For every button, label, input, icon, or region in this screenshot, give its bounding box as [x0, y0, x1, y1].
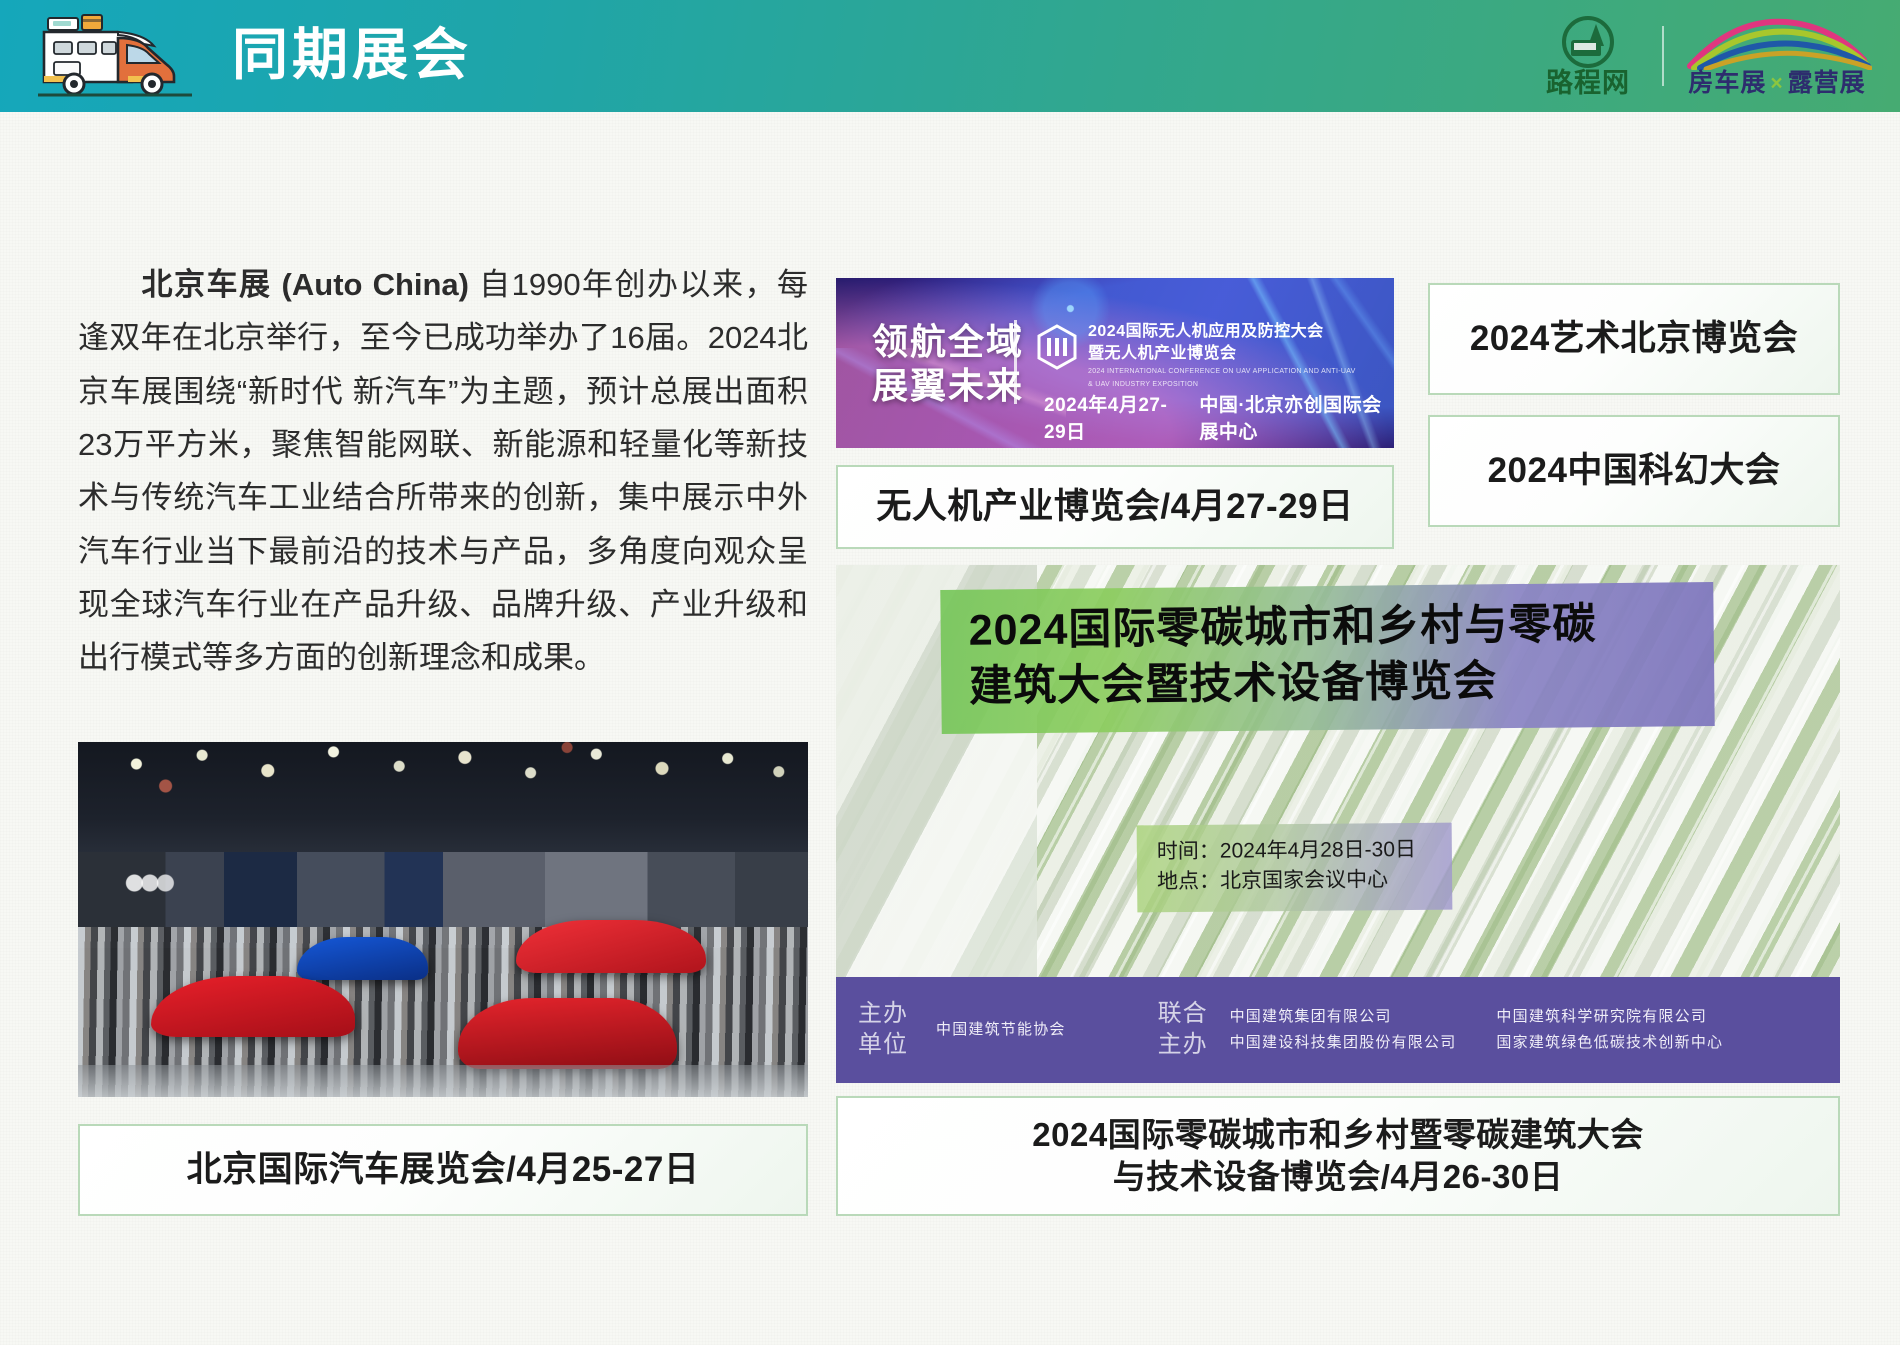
- uav-conference-banner: 领航全域 展翼未来 2024国际无人机应用及防控大会 暨无人机产业博览会 202…: [836, 278, 1394, 448]
- banner-title-block: 2024国际无人机应用及防控大会 暨无人机产业博览会 2024 INTERNAT…: [1088, 321, 1356, 390]
- lucheng-logo: 路程网: [1532, 16, 1644, 97]
- poster-info-box: 时间：2024年4月28日-30日 地点：北京国家会议中心: [1137, 823, 1453, 913]
- poster-cohost-column-2: 中国建筑科学研究院有限公司 国家建筑绿色低碳技术创新中心: [1496, 1004, 1723, 1055]
- poster-cohost-group: 联合 主办 中国建筑集团有限公司 中国建设科技集团股份有限公司 中国建筑科学研究…: [1158, 999, 1724, 1060]
- caption-zero-carbon-text: 2024国际零碳城市和乡村暨零碳建筑大会 与技术设备博览会/4月26-30日: [1032, 1114, 1643, 1198]
- poster-info-time: 时间：2024年4月28日-30日: [1157, 835, 1416, 868]
- blue-car: [297, 937, 428, 980]
- lucheng-logo-text: 路程网: [1546, 70, 1630, 97]
- banner-title-line2: 暨无人机产业博览会: [1088, 343, 1356, 365]
- poster-cohost-label: 联合 主办: [1158, 999, 1208, 1060]
- red-car-front: [458, 998, 677, 1069]
- banner-slogan: 领航全域 展翼未来: [872, 320, 1024, 408]
- caption-scifi-convention-text: 2024中国科幻大会: [1488, 449, 1781, 494]
- banner-subtitle-line2: & UAV INDUSTRY EXPOSITION: [1088, 380, 1356, 390]
- banner-date: 2024年4月27-29日: [1044, 390, 1177, 444]
- expo-logo-right: 露营展: [1788, 71, 1866, 96]
- banner-vertical-divider: [1014, 320, 1017, 404]
- poster-host-label-line2: 单位: [858, 1030, 908, 1061]
- article-lead: 北京车展 (Auto China): [140, 267, 469, 302]
- caption-zero-carbon: 2024国际零碳城市和乡村暨零碳建筑大会 与技术设备博览会/4月26-30日: [836, 1096, 1840, 1216]
- poster-host-group: 主办 单位 中国建筑节能协会: [858, 999, 1066, 1060]
- caption-uav: 无人机产业博览会/4月27-29日: [836, 465, 1394, 549]
- expo-logo-left: 房车展: [1688, 71, 1766, 96]
- expo-logo-separator: ×: [1770, 73, 1783, 94]
- article-body: 自1990年创办以来，每逢双年在北京举行，至今已成功举办了16届。2024北京车…: [78, 267, 808, 675]
- zero-carbon-conference-poster: 2024国际零碳城市和乡村与零碳 建筑大会暨技术设备博览会 时间：2024年4月…: [836, 565, 1840, 1083]
- poster-cohost-col1-line2: 中国建设科技集团股份有限公司: [1230, 1030, 1457, 1056]
- poster-cohost-label-line2: 主办: [1158, 1030, 1208, 1061]
- caption-zero-carbon-line1: 2024国际零碳城市和乡村暨零碳建筑大会: [1032, 1114, 1643, 1156]
- rv-camper-icon: [32, 14, 212, 100]
- caption-uav-text: 无人机产业博览会/4月27-29日: [876, 485, 1353, 530]
- poster-host-label-line1: 主办: [858, 999, 908, 1030]
- poster-cohost-column-1: 中国建筑集团有限公司 中国建设科技集团股份有限公司: [1230, 1004, 1457, 1055]
- poster-cohost-col1-line1: 中国建筑集团有限公司: [1230, 1004, 1457, 1030]
- red-car-rear: [516, 920, 706, 973]
- banner-venue: 中国·北京亦创国际会展中心: [1199, 390, 1394, 444]
- expo-logo: 房车展 × 露营展: [1682, 16, 1872, 96]
- poster-host-label: 主办 单位: [858, 999, 908, 1060]
- expo-logo-text: 房车展 × 露营展: [1688, 71, 1865, 96]
- poster-title-line1: 2024国际零碳城市和乡村与零碳: [969, 596, 1697, 660]
- caption-art-beijing: 2024艺术北京博览会: [1428, 283, 1840, 395]
- poster-cohost-col2-line2: 国家建筑绿色低碳技术创新中心: [1496, 1030, 1723, 1056]
- poster-title-line2: 建筑大会暨技术设备博览会: [969, 652, 1697, 716]
- poster-cohost-label-line1: 联合: [1158, 999, 1208, 1030]
- page-title: 同期展会: [232, 27, 472, 83]
- caption-scifi-convention: 2024中国科幻大会: [1428, 415, 1840, 527]
- uav-hex-logo-icon: [1036, 324, 1078, 370]
- caption-autoshow: 北京国际汽车展览会/4月25-27日: [78, 1124, 808, 1216]
- beijing-auto-show-photo: [78, 742, 808, 1097]
- hall-floor: [78, 1065, 808, 1097]
- caption-zero-carbon-line2: 与技术设备博览会/4月26-30日: [1032, 1156, 1643, 1198]
- article-column: 北京车展 (Auto China) 自1990年创办以来，每逢双年在北京举行，至…: [78, 258, 808, 685]
- banner-slogan-line1: 领航全域: [872, 320, 1024, 364]
- rainbow-arc-icon: [1682, 16, 1872, 70]
- poster-host-name: 中国建筑节能协会: [936, 1017, 1066, 1043]
- exhibition-hall-ceiling: [78, 742, 808, 852]
- banner-date-venue: 2024年4月27-29日 中国·北京亦创国际会展中心: [1044, 390, 1394, 444]
- caption-autoshow-text: 北京国际汽车展览会/4月25-27日: [187, 1148, 700, 1193]
- logo-divider: [1662, 26, 1664, 86]
- poster-info-place: 地点：北京国家会议中心: [1157, 865, 1416, 898]
- lucheng-circle-badge-icon: [1562, 16, 1614, 68]
- page-header: 同期展会 路程网 房车展 × 露营展: [0, 0, 1900, 112]
- banner-slogan-line2: 展翼未来: [872, 364, 1024, 408]
- banner-title-line1: 2024国际无人机应用及防控大会: [1088, 321, 1356, 343]
- poster-organizer-footer: 主办 单位 中国建筑节能协会 联合 主办 中国建筑集团有限公司 中国建设科技集团…: [836, 977, 1840, 1083]
- article-paragraph: 北京车展 (Auto China) 自1990年创办以来，每逢双年在北京举行，至…: [78, 258, 808, 685]
- poster-title-band: 2024国际零碳城市和乡村与零碳 建筑大会暨技术设备博览会: [941, 582, 1716, 734]
- poster-cohost-col2-line1: 中国建筑科学研究院有限公司: [1496, 1004, 1723, 1030]
- banner-subtitle-line1: 2024 INTERNATIONAL CONFERENCE ON UAV APP…: [1088, 367, 1356, 377]
- header-logos: 路程网 房车展 × 露营展: [1532, 14, 1872, 98]
- caption-art-beijing-text: 2024艺术北京博览会: [1470, 317, 1798, 362]
